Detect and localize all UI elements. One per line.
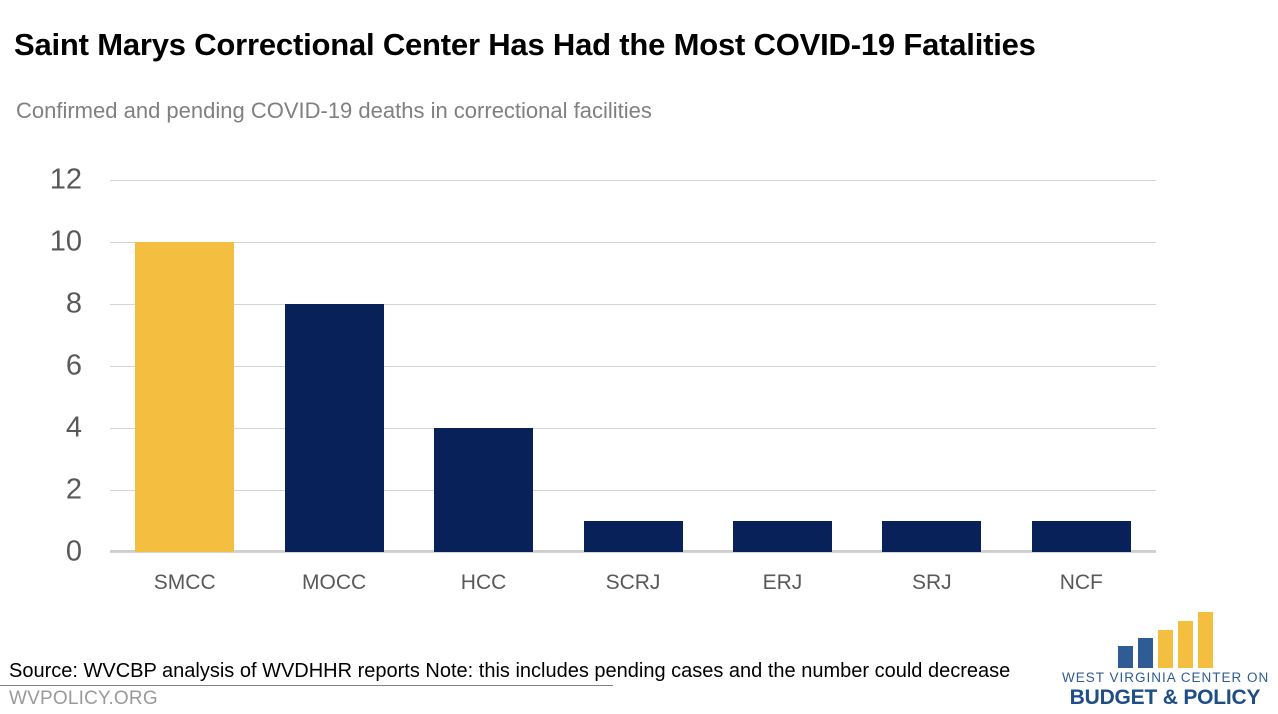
y-axis: 121086420	[0, 180, 96, 552]
logo-bars-icon	[1118, 612, 1214, 668]
x-axis-tick-label: SCRJ	[558, 570, 707, 595]
logo-bar-2	[1138, 638, 1153, 668]
bar-erj[interactable]	[733, 521, 832, 552]
logo-bar-1	[1118, 646, 1133, 668]
site-url: WVPOLICY.ORG	[9, 688, 158, 710]
bar-srj[interactable]	[882, 521, 981, 552]
logo-bar-4	[1178, 621, 1193, 668]
x-axis: SMCCMOCCHCCSCRJERJSRJNCF	[110, 570, 1156, 602]
source-note-rule	[0, 685, 613, 686]
logo-text-top: WEST VIRGINIA CENTER ON	[1062, 670, 1268, 685]
x-axis-tick-label: HCC	[409, 570, 558, 595]
y-axis-tick-label: 10	[50, 228, 82, 257]
x-axis-tick-label: SMCC	[110, 570, 259, 595]
x-axis-tick-label: SRJ	[857, 570, 1006, 595]
source-note: Source: WVCBP analysis of WVDHHR reports…	[9, 660, 1010, 683]
logo-bar-5	[1198, 612, 1213, 668]
bar-hcc[interactable]	[434, 428, 533, 552]
bar-scrj[interactable]	[584, 521, 683, 552]
gridline	[110, 552, 1156, 553]
y-axis-tick-label: 4	[66, 414, 82, 443]
y-axis-tick-label: 12	[50, 166, 82, 195]
y-axis-tick-label: 2	[66, 476, 82, 505]
bar-series	[110, 180, 1156, 552]
chart-subtitle: Confirmed and pending COVID-19 deaths in…	[16, 98, 652, 124]
x-axis-tick-label: MOCC	[259, 570, 408, 595]
logo-bar-3	[1158, 630, 1173, 668]
bar-mocc[interactable]	[285, 304, 384, 552]
x-axis-tick-label: NCF	[1007, 570, 1156, 595]
y-axis-tick-label: 6	[66, 352, 82, 381]
bar-smcc[interactable]	[135, 242, 234, 552]
wvcbp-logo: WEST VIRGINIA CENTER ON BUDGET & POLICY	[1062, 612, 1268, 704]
logo-text-bottom: BUDGET & POLICY	[1062, 686, 1268, 710]
y-axis-tick-label: 0	[66, 538, 82, 567]
bar-ncf[interactable]	[1032, 521, 1131, 552]
chart-title: Saint Marys Correctional Center Has Had …	[14, 27, 1036, 63]
y-axis-tick-label: 8	[66, 290, 82, 319]
x-axis-tick-label: ERJ	[708, 570, 857, 595]
